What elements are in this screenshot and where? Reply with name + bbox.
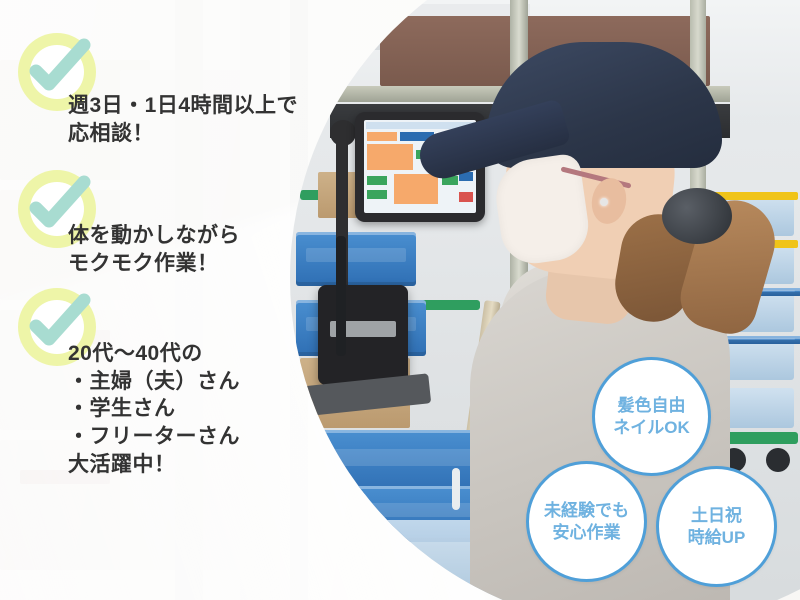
benefit-text-demographics: 20代〜40代の ・主婦（夫）さん ・学生さん ・フリーターさん 大活躍中！ (68, 340, 240, 479)
benefit-text-worktype: 体を動かしながら モクモク作業！ (68, 222, 240, 277)
poster-canvas: YC 2608 (0, 0, 800, 600)
badge-no-experience: 未経験でも 安心作業 (526, 461, 647, 582)
benefit-text-schedule: 週3日・1日4時間以上で 応相談！ (68, 92, 298, 147)
handheld-scanner (318, 285, 408, 385)
badge-hair-nail: 髪色自由 ネイルOK (592, 357, 711, 476)
badge-weekend-bonus: 土日祝 時給UP (656, 466, 777, 587)
